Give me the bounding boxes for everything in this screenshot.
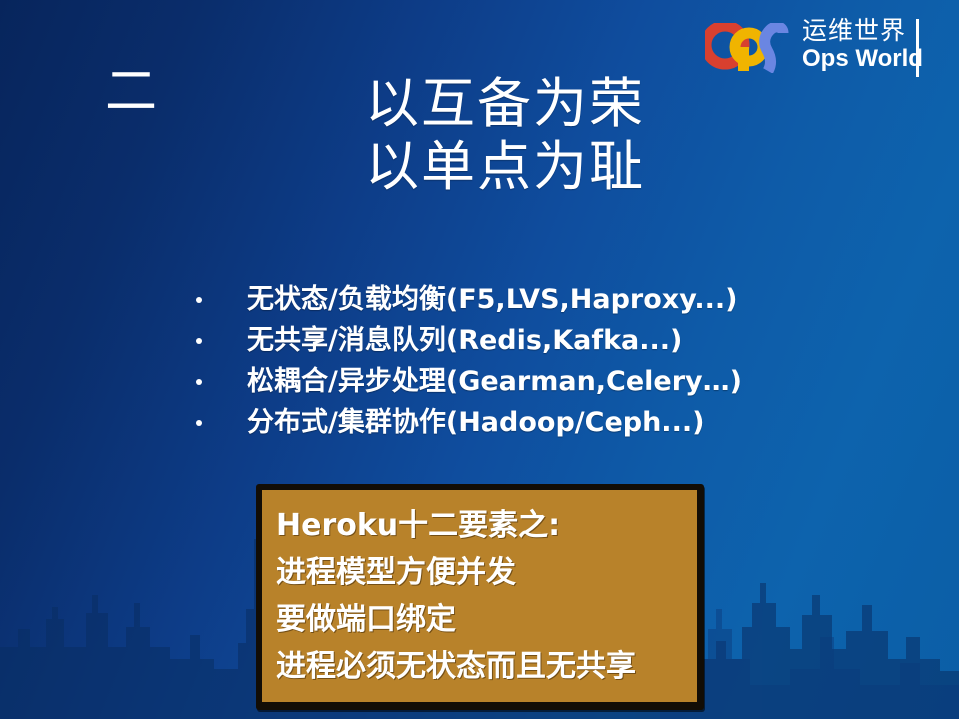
logo-chinese-name: 运维世界 (802, 17, 906, 45)
ops-logo-mark-icon (705, 23, 797, 73)
list-item-label: 分布式/集群协作(Hadoop/Ceph...) (247, 404, 936, 442)
callout-line-1: Heroku十二要素之: (276, 502, 696, 549)
callout-line-4: 进程必须无状态而且无共享 (276, 643, 696, 690)
list-item: 无共享/消息队列(Redis,Kafka...) (196, 322, 936, 363)
bullet-dot-icon (196, 338, 202, 344)
bullet-dot-icon (196, 379, 202, 385)
slide-canvas: 运维世界 Ops World 二 以互备为荣 以单点为耻 无状态/负载均衡(F5… (0, 0, 959, 719)
bullet-dot-icon (196, 420, 202, 426)
list-item-label: 松耦合/异步处理(Gearman,Celery…) (247, 363, 936, 401)
list-item: 松耦合/异步处理(Gearman,Celery…) (196, 363, 936, 404)
ops-world-logo: 运维世界 Ops World (705, 17, 920, 79)
page-title-line-1: 以互备为荣 (180, 72, 830, 135)
callout-text-block: Heroku十二要素之: 进程模型方便并发 要做端口绑定 进程必须无状态而且无共… (276, 502, 696, 706)
logo-wordmark: 运维世界 Ops World (802, 17, 920, 79)
page-title: 以互备为荣 以单点为耻 (180, 72, 830, 198)
list-item: 无状态/负载均衡(F5,LVS,Haproxy...) (196, 281, 936, 322)
bullet-list: 无状态/负载均衡(F5,LVS,Haproxy...) 无共享/消息队列(Red… (196, 281, 936, 445)
list-item-label: 无状态/负载均衡(F5,LVS,Haproxy...) (247, 281, 936, 319)
list-item: 分布式/集群协作(Hadoop/Ceph...) (196, 404, 936, 445)
logo-english-name: Ops World (802, 45, 923, 72)
callout-box: Heroku十二要素之: 进程模型方便并发 要做端口绑定 进程必须无状态而且无共… (256, 484, 704, 710)
bullet-dot-icon (196, 297, 202, 303)
section-number: 二 (105, 62, 157, 122)
callout-line-3: 要做端口绑定 (276, 596, 696, 643)
logo-bar-accent (916, 19, 919, 77)
ops-mark-svg (705, 23, 797, 73)
list-item-label: 无共享/消息队列(Redis,Kafka...) (247, 322, 936, 360)
page-title-line-2: 以单点为耻 (180, 135, 830, 198)
callout-line-2: 进程模型方便并发 (276, 549, 696, 596)
